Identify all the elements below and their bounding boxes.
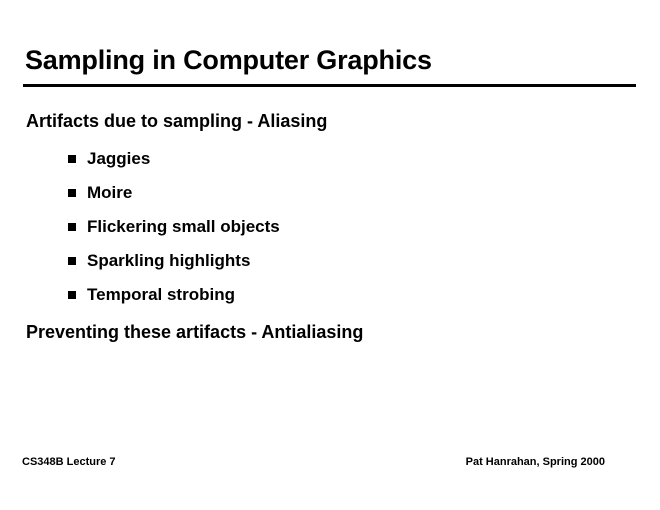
slide-body: Artifacts due to sampling - Aliasing Jag… bbox=[0, 108, 660, 345]
body-heading-antialiasing: Preventing these artifacts - Antialiasin… bbox=[0, 319, 660, 345]
list-item-label: Jaggies bbox=[87, 142, 150, 176]
presentation-slide: Sampling in Computer Graphics Artifacts … bbox=[0, 0, 660, 510]
filled-square-bullet-icon bbox=[68, 223, 76, 231]
list-item: Flickering small objects bbox=[0, 210, 660, 244]
list-item-label: Temporal strobing bbox=[87, 278, 235, 312]
list-item-label: Flickering small objects bbox=[87, 210, 280, 244]
filled-square-bullet-icon bbox=[68, 189, 76, 197]
footer-author-label: Pat Hanrahan, Spring 2000 bbox=[466, 456, 605, 468]
filled-square-bullet-icon bbox=[68, 257, 76, 265]
title-underline-rule bbox=[23, 84, 636, 87]
filled-square-bullet-icon bbox=[68, 155, 76, 163]
list-item-label: Moire bbox=[87, 176, 132, 210]
body-heading-aliasing: Artifacts due to sampling - Aliasing bbox=[0, 108, 660, 134]
slide-footer: CS348B Lecture 7 Pat Hanrahan, Spring 20… bbox=[22, 456, 605, 468]
artifact-bullet-list: Jaggies Moire Flickering small objects S… bbox=[0, 142, 660, 312]
slide-title: Sampling in Computer Graphics bbox=[25, 43, 432, 77]
list-item: Jaggies bbox=[0, 142, 660, 176]
filled-square-bullet-icon bbox=[68, 291, 76, 299]
footer-course-label: CS348B Lecture 7 bbox=[22, 456, 116, 468]
list-item: Temporal strobing bbox=[0, 278, 660, 312]
list-item-label: Sparkling highlights bbox=[87, 244, 250, 278]
list-item: Sparkling highlights bbox=[0, 244, 660, 278]
list-item: Moire bbox=[0, 176, 660, 210]
